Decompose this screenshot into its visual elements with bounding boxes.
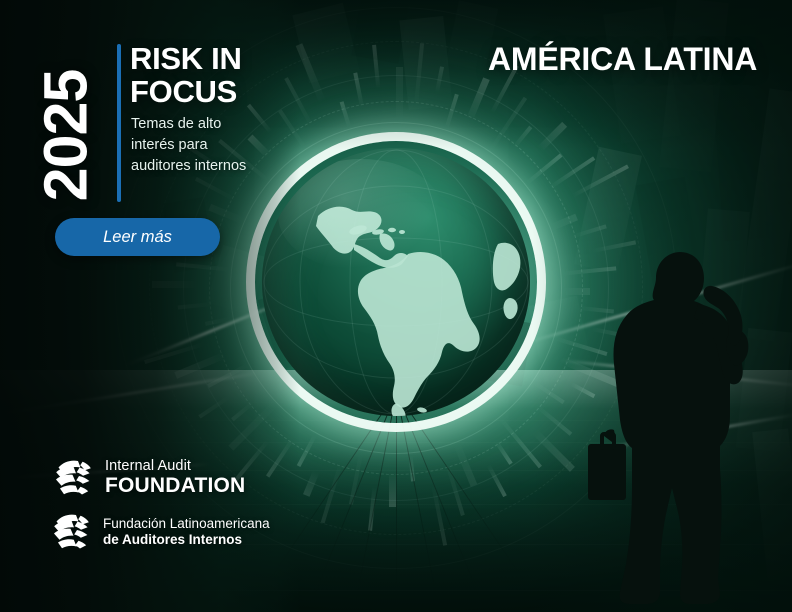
subtitle: Temas de alto interés para auditores int…: [131, 114, 251, 177]
read-more-label: Leer más: [103, 228, 172, 247]
year-label: 2025: [36, 46, 97, 226]
blue-divider: [117, 44, 121, 202]
globe-mark-icon: [50, 512, 92, 552]
headline-line-2: FOCUS: [130, 75, 300, 108]
risk-in-focus-poster: 2025 RISK IN FOCUS Temas de alto interés…: [0, 0, 792, 612]
internal-audit-foundation-logo: Internal Audit FOUNDATION: [52, 458, 245, 498]
region-title: AMÉRICA LATINA: [488, 41, 757, 78]
logo-line-1: Fundación Latinoamericana: [103, 516, 270, 532]
page-title: RISK IN FOCUS: [130, 42, 300, 109]
logo-line-2: FOUNDATION: [105, 474, 245, 497]
headline-line-1: RISK IN: [130, 42, 300, 75]
fundacion-latinoamericana-logo: Fundación Latinoamericana de Auditores I…: [50, 512, 270, 552]
read-more-button[interactable]: Leer más: [55, 218, 220, 256]
logo-line-2: de Auditores Internos: [103, 532, 270, 548]
businessman-silhouette-phone-briefcase-icon: [570, 248, 792, 612]
globe-mark-icon: [52, 458, 94, 498]
logo-line-1: Internal Audit: [105, 459, 245, 475]
